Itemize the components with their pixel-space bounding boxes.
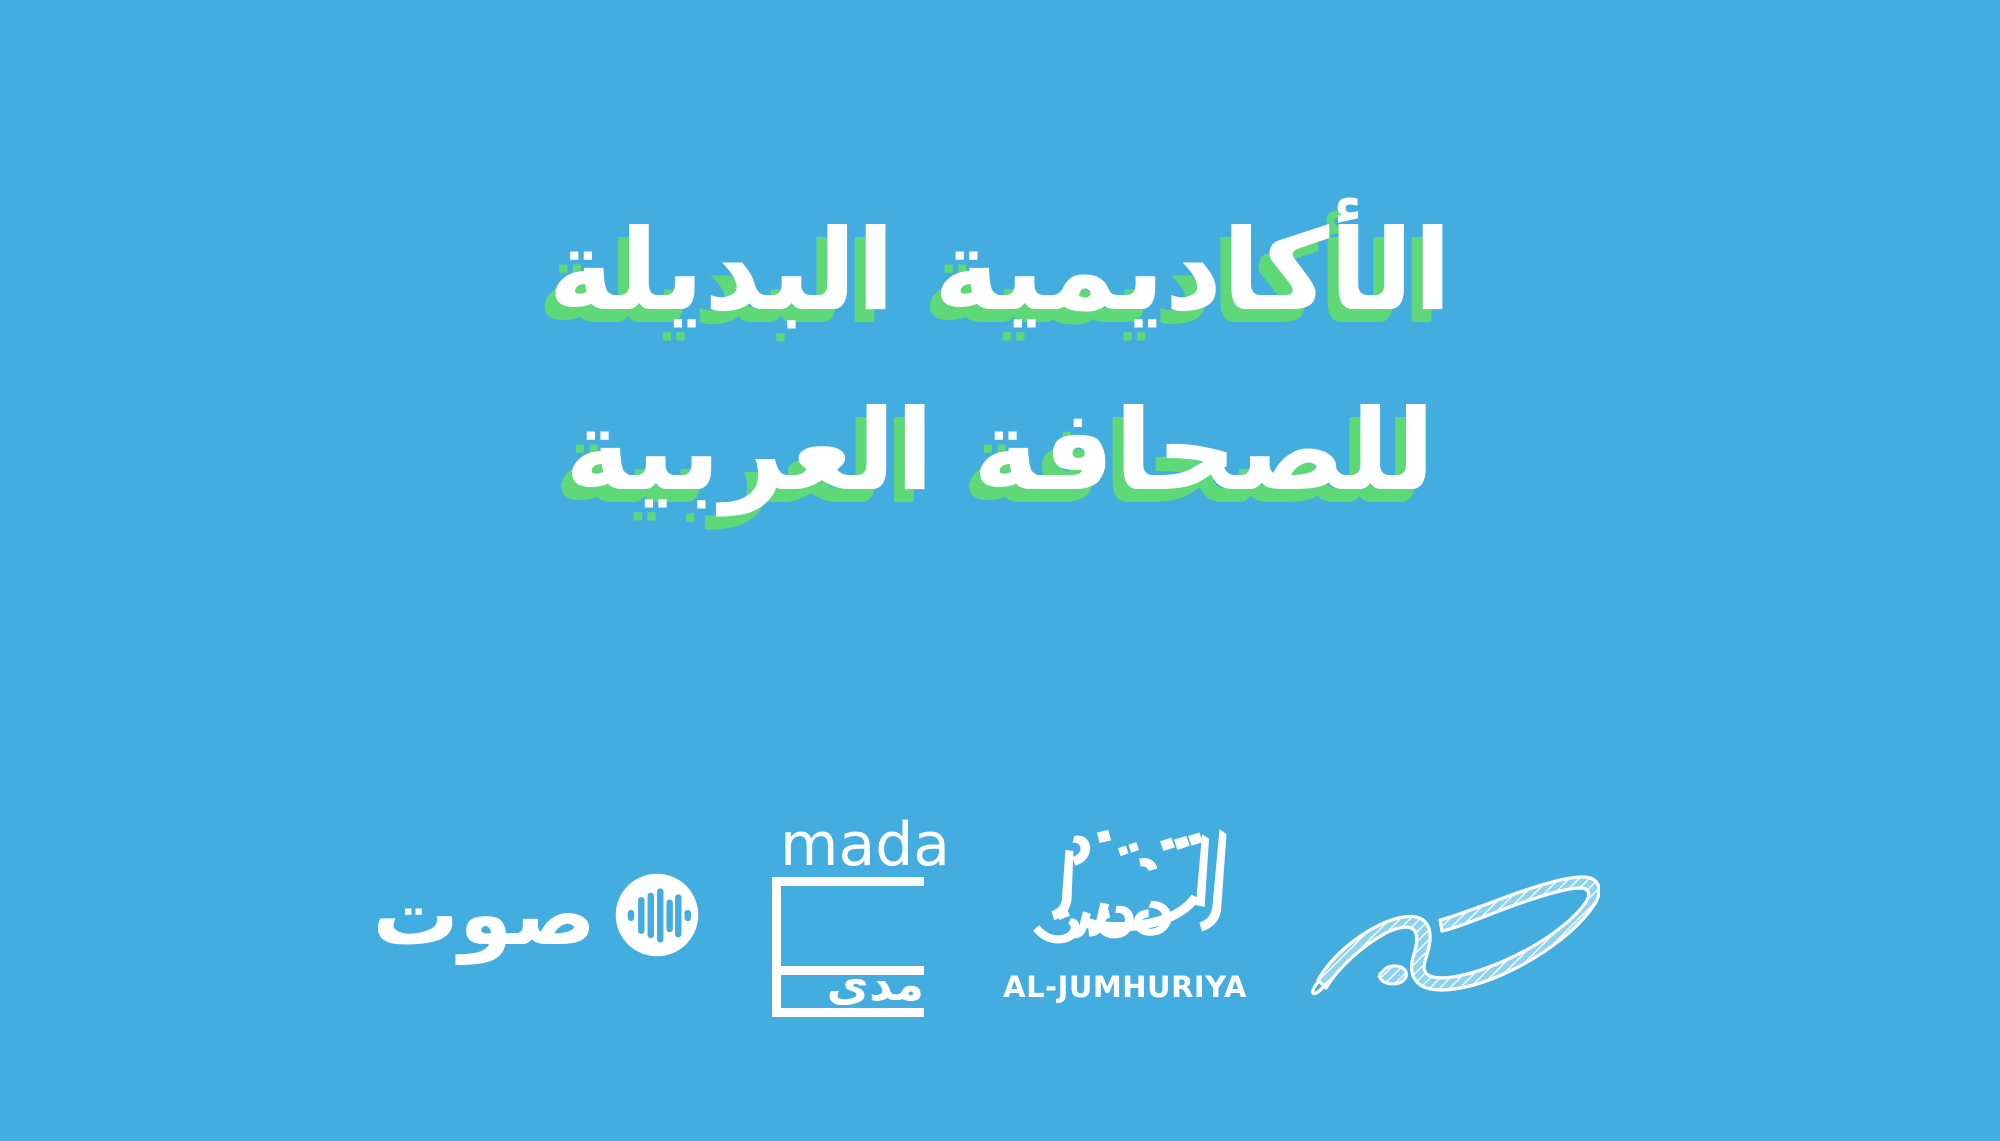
al-jumhuriya-latin-wordmark: AL-JUMHURIYA xyxy=(1003,970,1247,1004)
sketch-calligraphy-icon xyxy=(1310,830,1600,1000)
mada-arabic-frame: مدى xyxy=(772,967,924,1017)
arabic-calligraphy-icon xyxy=(1020,810,1230,960)
audio-waveform-circle-icon xyxy=(614,872,700,958)
mada-latin-wordmark: mada xyxy=(780,815,950,875)
headline-line-1: الأكاديمية البديلة xyxy=(0,196,2000,346)
headline-block: الأكاديمية البديلة للصحافة العربية xyxy=(0,196,2000,526)
mada-frame-icon: mada مدى xyxy=(770,815,940,1015)
partner-logo-row: صوت mada xyxy=(0,795,2000,1035)
partner-logo-mada[interactable]: mada مدى xyxy=(770,795,940,1035)
poster-canvas: الأكاديمية البديلة للصحافة العربية صوت xyxy=(0,0,2000,1141)
partner-logo-sowt[interactable]: صوت xyxy=(400,795,700,1035)
partner-logo-hibr[interactable] xyxy=(1310,830,1600,1000)
partner-logo-al-jumhuriya[interactable]: AL-JUMHURIYA xyxy=(1010,810,1240,1020)
headline-line-2: للصحافة العربية xyxy=(0,376,2000,526)
sowt-wordmark: صوت xyxy=(373,872,596,958)
mada-arabic-wordmark: مدى xyxy=(827,961,924,1007)
